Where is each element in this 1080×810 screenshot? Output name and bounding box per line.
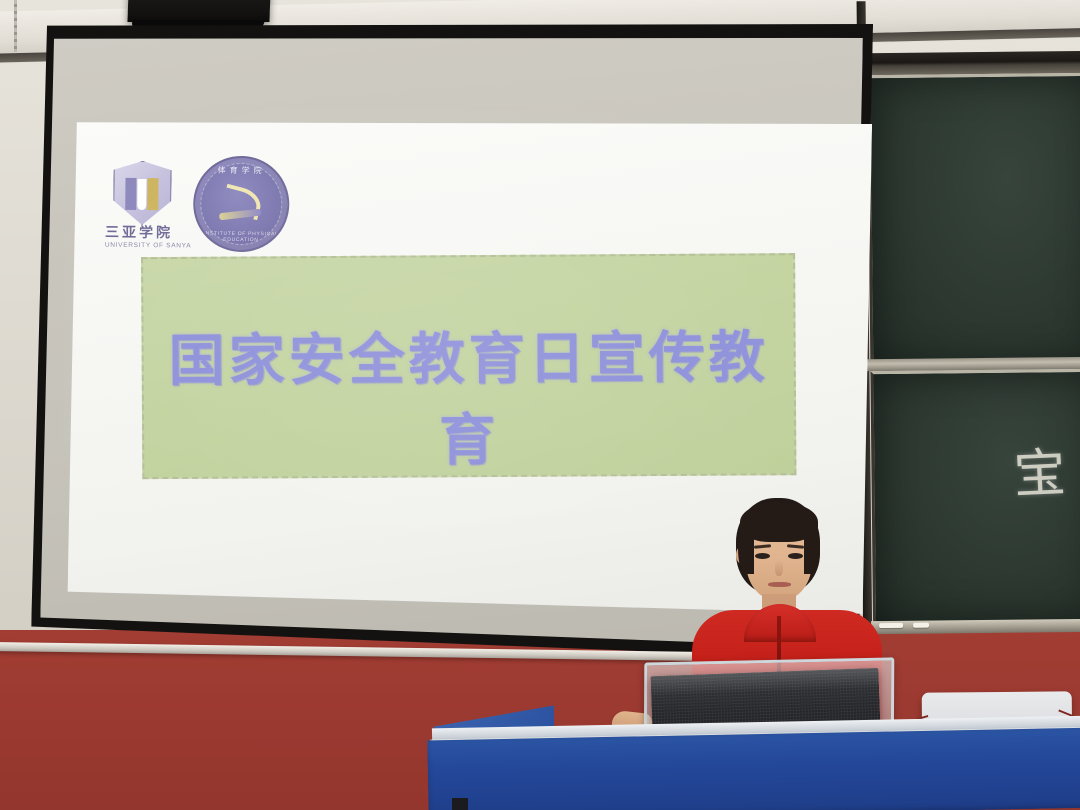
slide-title-text: 国家安全教育日宣传教育: [143, 312, 794, 478]
desk-leg: [452, 798, 468, 810]
university-name-cn: 三亚学院: [105, 225, 187, 240]
classroom-photo: 宝 三亚学院 UNIVERSITY OF SANYA 体育学院 INST: [0, 0, 1080, 810]
university-shield-icon: [113, 161, 170, 228]
eye-right: [788, 553, 803, 559]
slide-title-panel: 国家安全教育日宣传教育: [141, 253, 796, 479]
mouth: [768, 582, 791, 587]
institute-circular-logo-icon: 体育学院 INSTITUTE OF PHYSICAL EDUCATION: [193, 156, 290, 253]
desk-front-panel: [427, 728, 1080, 810]
blackboard-panel-upper: [867, 73, 1080, 368]
institute-name-en: INSTITUTE OF PHYSICAL EDUCATION: [195, 231, 287, 244]
institute-emblem-icon: [217, 186, 265, 224]
slide-logo-row: 三亚学院 UNIVERSITY OF SANYA 体育学院 INSTITUTE …: [107, 155, 328, 265]
hair-side-left: [738, 518, 754, 574]
blackboard-header-rail: [863, 51, 1080, 75]
chalk-stick: [913, 623, 929, 628]
eye-left: [755, 553, 770, 559]
hanging-chain: [14, 0, 17, 52]
blackboard-chalk-writing: 宝: [1012, 430, 1069, 507]
blackboard: 宝: [863, 0, 1080, 661]
nose: [775, 560, 783, 576]
university-name-en: UNIVERSITY OF SANYA: [105, 243, 225, 251]
institute-name-cn: 体育学院: [196, 165, 288, 177]
